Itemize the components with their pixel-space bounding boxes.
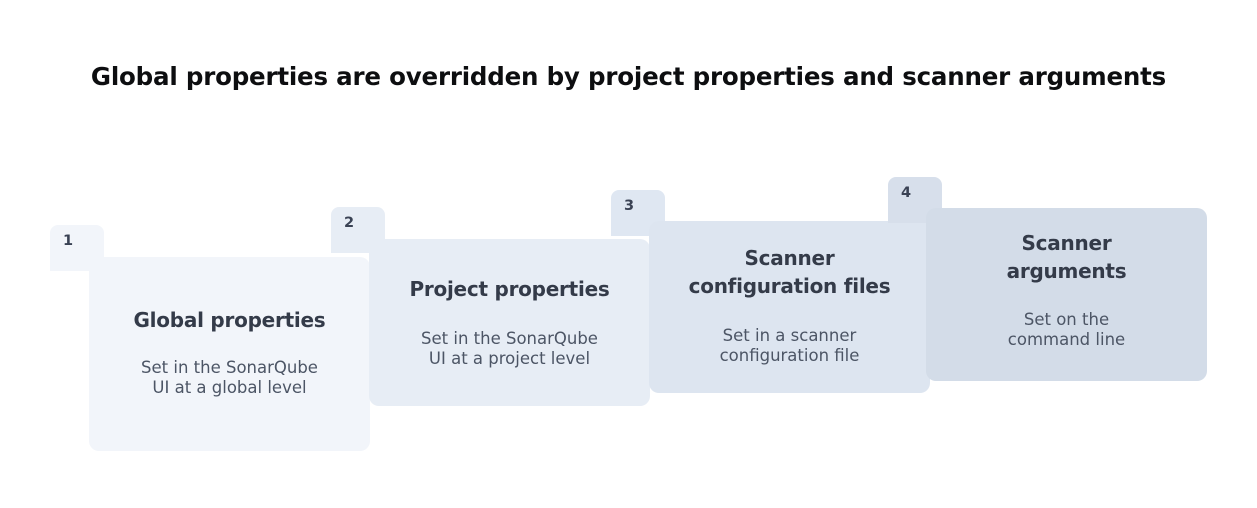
step-heading-4: Scanner arguments [1007,230,1127,285]
step-heading-2: Project properties [409,276,609,304]
step-heading-1: Global properties [134,307,326,335]
step-description-3: Set in a scanner configuration file [720,326,860,367]
step-number-3: 3 [624,199,665,214]
step-body-3: Scanner configuration files Set in a sca… [649,221,930,393]
page-title: Global properties are overridden by proj… [0,62,1257,91]
step-description-4: Set on the command line [1008,310,1125,351]
step-number-1: 1 [63,234,104,249]
step-number-4: 4 [901,186,942,201]
step-description-2: Set in the SonarQube UI at a project lev… [421,329,598,370]
step-description-1: Set in the SonarQube UI at a global leve… [141,358,318,399]
step-body-1: Global properties Set in the SonarQube U… [89,257,370,451]
step-body-4: Scanner arguments Set on the command lin… [926,208,1207,381]
step-number-2: 2 [344,216,385,231]
precedence-diagram: Global properties are overridden by proj… [0,0,1257,508]
step-heading-3: Scanner configuration files [689,245,891,300]
step-body-2: Project properties Set in the SonarQube … [369,239,650,406]
